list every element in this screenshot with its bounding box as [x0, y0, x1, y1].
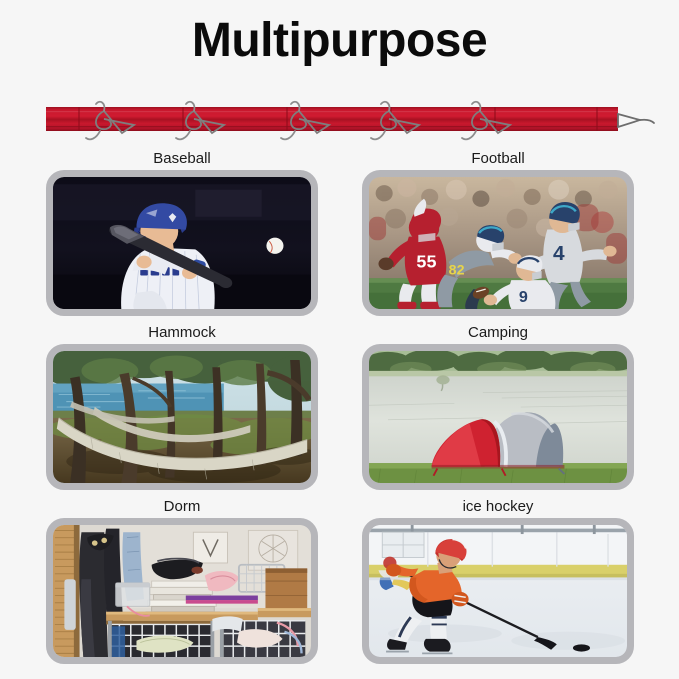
use-case-label: Camping [362, 322, 634, 344]
baseball-photo [53, 177, 311, 309]
use-case-cell-dorm: Dorm [46, 496, 318, 664]
wire-basket-left [112, 624, 211, 657]
grid-row: Hammock [46, 322, 634, 490]
strap-svg [0, 95, 679, 147]
photo-frame[interactable] [46, 518, 318, 664]
hammock-photo [53, 351, 311, 483]
page-title: Multipurpose [0, 16, 679, 66]
grid-row: Baseball [46, 148, 634, 316]
camping-photo [369, 351, 627, 483]
use-case-label: Baseball [46, 148, 318, 170]
use-case-label: Football [362, 148, 634, 170]
strap-illustration [0, 95, 679, 147]
strap-end-hook-icon [618, 114, 654, 127]
football-photo: 55 82 [369, 177, 627, 309]
use-case-label: ice hockey [362, 496, 634, 518]
svg-text:55: 55 [416, 252, 436, 272]
ice-hockey-photo [369, 525, 627, 657]
photo-frame[interactable] [362, 344, 634, 490]
use-case-cell-baseball: Baseball [46, 148, 318, 316]
use-case-cell-ice-hockey: ice hockey [362, 496, 634, 664]
strap-stitch-top [46, 111, 618, 112]
svg-text:4: 4 [553, 244, 565, 265]
photo-frame[interactable] [46, 344, 318, 490]
use-case-cell-football: Football [362, 148, 634, 316]
svg-text:9: 9 [519, 289, 528, 306]
use-case-cell-camping: Camping [362, 322, 634, 490]
use-case-cell-hammock: Hammock [46, 322, 318, 490]
photo-frame[interactable] [362, 518, 634, 664]
photo-frame[interactable] [46, 170, 318, 316]
photo-frame[interactable]: 55 82 [362, 170, 634, 316]
use-case-grid: Baseball [46, 148, 634, 670]
dorm-photo [53, 525, 311, 657]
use-case-label: Hammock [46, 322, 318, 344]
svg-text:82: 82 [449, 262, 465, 278]
grid-row: Dorm [46, 496, 634, 664]
use-case-label: Dorm [46, 496, 318, 518]
